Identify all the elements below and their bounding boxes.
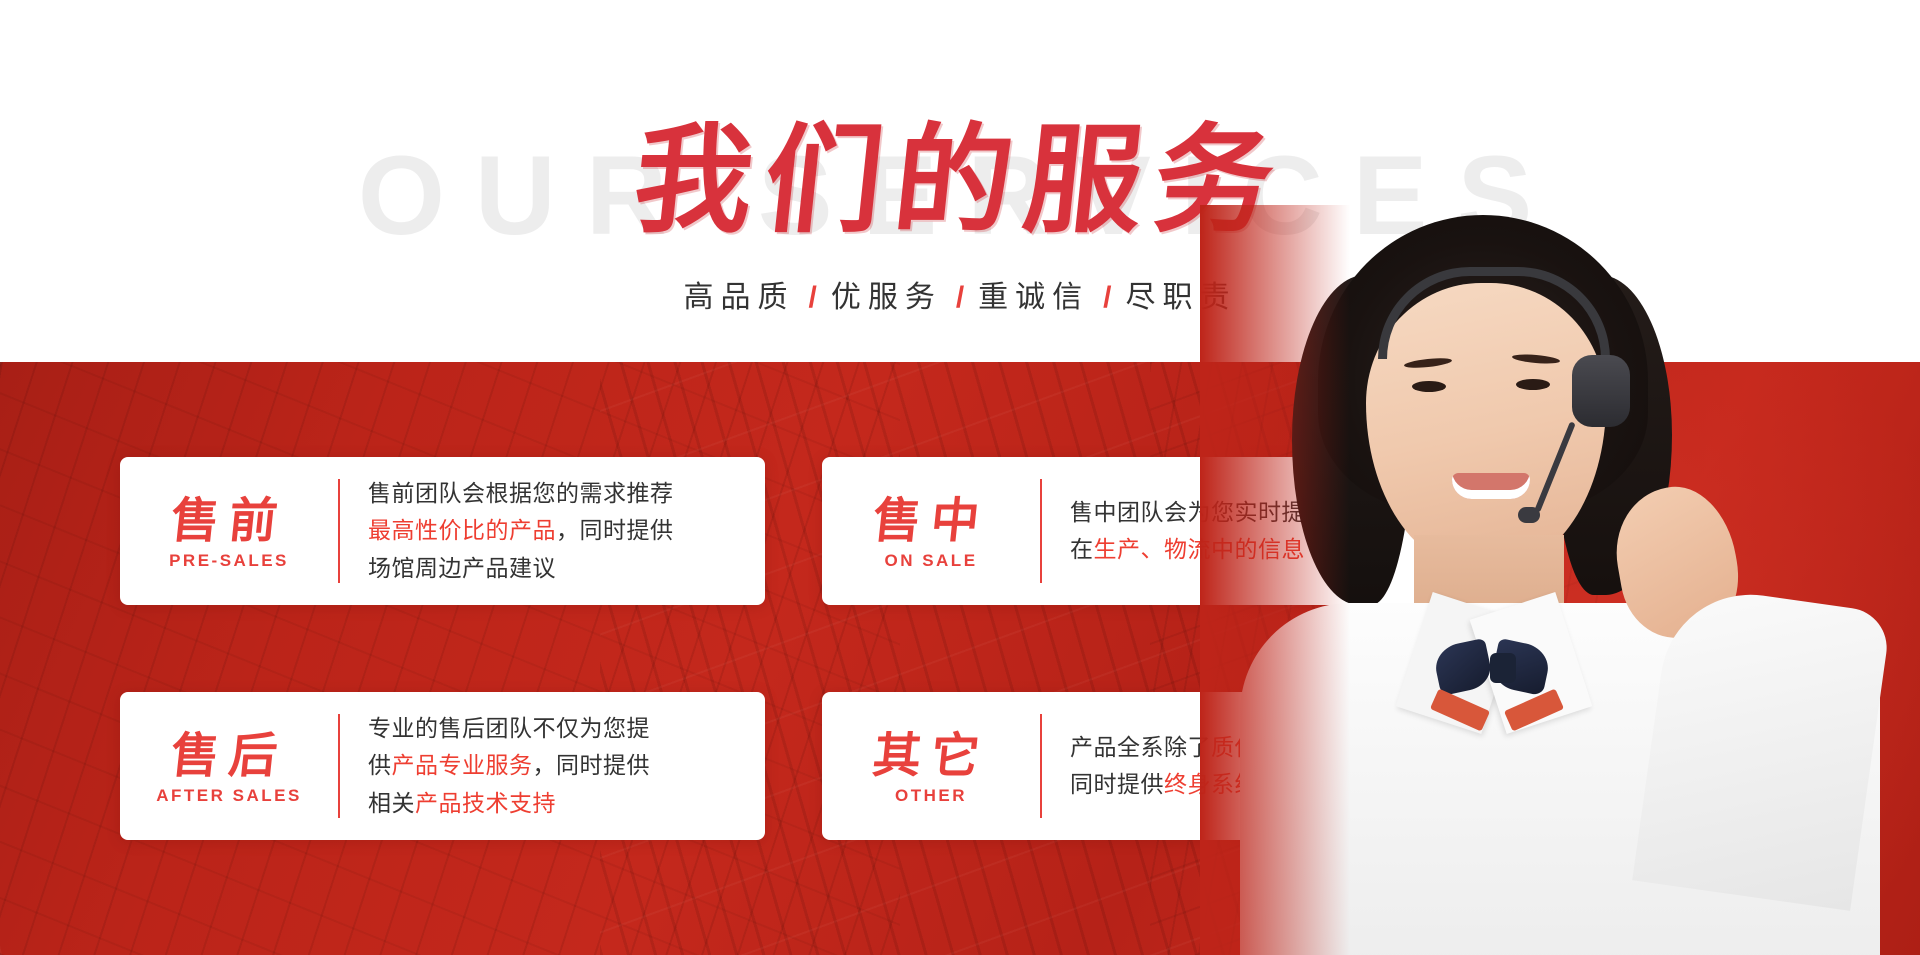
service-card[interactable]: 售后 AFTER SALES 专业的售后团队不仅为您提供产品专业服务，同时提供相…	[120, 692, 765, 840]
card-badge-cn: 其它	[870, 730, 992, 783]
service-card[interactable]: 售中 ON SALE 售中团队会为您实时提供产品在生产、物流中的信息	[822, 457, 1467, 605]
plain-text: ，同时提供	[556, 517, 674, 543]
card-description: 专业的售后团队不仅为您提供产品专业服务，同时提供相关产品技术支持	[340, 710, 765, 822]
subtitle: 高品质/优服务/重诚信/尽职责	[0, 272, 1920, 316]
plain-text: 售前团队会根据您的需求推荐	[368, 480, 674, 506]
card-description-line: 售前团队会根据您的需求推荐	[368, 475, 747, 512]
subtitle-separator: /	[794, 281, 830, 314]
card-badge-en: PRE-SALES	[169, 551, 289, 571]
card-description-line: 供产品专业服务，同时提供	[368, 747, 747, 784]
highlighted-text: 产品技术支持	[415, 790, 556, 816]
card-badge-cn: 售后	[168, 730, 290, 783]
card-badge-cn: 售前	[168, 495, 290, 548]
card-description-line: 专业的售后团队不仅为您提	[368, 710, 747, 747]
card-description-line: 在生产、物流中的信息	[1070, 531, 1449, 568]
service-card[interactable]: 其它 OTHER 产品全系除了质保三年外，同时提供终身系统升级服务	[822, 692, 1467, 840]
banner-body: 售前 PRE-SALES 售前团队会根据您的需求推荐最高性价比的产品，同时提供场…	[0, 362, 1920, 955]
plain-text: 产品全系除了	[1070, 734, 1211, 760]
plain-text: ，同时提供	[533, 752, 651, 778]
subtitle-separator: /	[942, 281, 978, 314]
card-description-line: 场馆周边产品建议	[368, 550, 747, 587]
card-badge-en: ON SALE	[884, 551, 977, 571]
subtitle-item: 优服务	[831, 281, 942, 314]
highlighted-text: 产品专业服务	[392, 752, 533, 778]
plain-text: 同时提供	[1070, 771, 1164, 797]
card-badge: 其它 OTHER	[822, 726, 1040, 807]
card-badge: 售后 AFTER SALES	[120, 726, 338, 807]
plain-text: 售中团队会为您实时提供产品	[1070, 499, 1376, 525]
card-description-line: 产品全系除了质保三年外，	[1070, 729, 1449, 766]
card-description-line: 售中团队会为您实时提供产品	[1070, 494, 1449, 531]
highlighted-text: 最高性价比的产品	[368, 517, 556, 543]
card-badge-en: AFTER SALES	[156, 786, 302, 806]
highlighted-text: 质保三年	[1211, 734, 1305, 760]
plain-text: 供	[368, 752, 392, 778]
plain-text: 相关	[368, 790, 415, 816]
plain-text: 服务	[1305, 771, 1352, 797]
plain-text: 专业的售后团队不仅为您提	[368, 715, 650, 741]
plain-text: 场馆周边产品建议	[368, 555, 556, 581]
subtitle-item: 高品质	[683, 281, 794, 314]
card-description: 售前团队会根据您的需求推荐最高性价比的产品，同时提供场馆周边产品建议	[340, 475, 765, 587]
services-banner: OUR SERVICES 我们的服务 高品质/优服务/重诚信/尽职责 售前 PR…	[0, 0, 1920, 955]
card-badge: 售前 PRE-SALES	[120, 491, 338, 572]
card-badge: 售中 ON SALE	[822, 491, 1040, 572]
highlighted-text: 生产、物流中的信息	[1094, 536, 1306, 562]
page-title: 我们的服务	[0, 118, 1920, 242]
service-card-list: 售前 PRE-SALES 售前团队会根据您的需求推荐最高性价比的产品，同时提供场…	[0, 362, 1920, 955]
service-card[interactable]: 售前 PRE-SALES 售前团队会根据您的需求推荐最高性价比的产品，同时提供场…	[120, 457, 765, 605]
subtitle-item: 重诚信	[978, 281, 1089, 314]
card-description: 售中团队会为您实时提供产品在生产、物流中的信息	[1042, 494, 1467, 569]
card-badge-en: OTHER	[895, 786, 967, 806]
highlighted-text: 终身系统升级	[1164, 771, 1305, 797]
card-description: 产品全系除了质保三年外，同时提供终身系统升级服务	[1042, 729, 1467, 804]
subtitle-separator: /	[1089, 281, 1125, 314]
card-badge-cn: 售中	[870, 495, 992, 548]
plain-text: 在	[1070, 536, 1094, 562]
card-description-line: 同时提供终身系统升级服务	[1070, 766, 1449, 803]
plain-text: 外，	[1305, 734, 1352, 760]
card-description-line: 相关产品技术支持	[368, 785, 747, 822]
subtitle-item: 尽职责	[1126, 281, 1237, 314]
banner-header: OUR SERVICES 我们的服务 高品质/优服务/重诚信/尽职责	[0, 0, 1920, 362]
card-description-line: 最高性价比的产品，同时提供	[368, 512, 747, 549]
